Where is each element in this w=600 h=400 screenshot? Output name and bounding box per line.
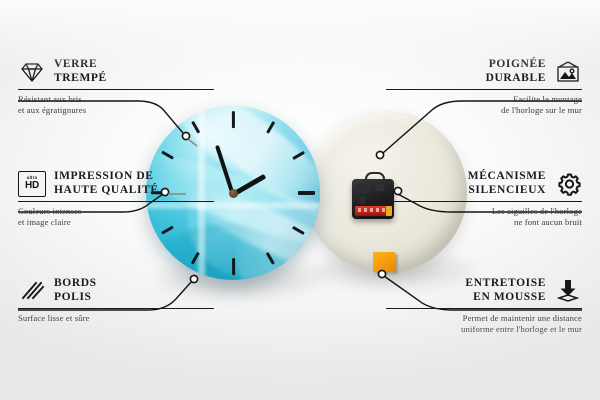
feature-verre-trempe: VERRE TREMPÉ Résistant aux bris et aux é… [18, 58, 214, 115]
feature-bords-polis: BORDS POLIS Surface lisse et sûre [18, 277, 214, 324]
feature-header: MÉCANISME SILENCIEUX [386, 170, 582, 197]
feature-title-line1: POIGNÉE [489, 58, 546, 70]
feature-title-line1: IMPRESSION DE [54, 170, 154, 182]
feature-header: BORDS POLIS [18, 277, 214, 304]
feature-subtitle: Permet de maintenir une distance uniform… [386, 313, 582, 334]
feature-subtitle-line2: et aux égratignures [18, 105, 86, 115]
feature-entretoise-en-mousse: ENTRETOISE EN MOUSSE Permet de maintenir… [386, 277, 582, 334]
foam-spacer-icon [554, 278, 582, 304]
polished-edges-icon [18, 278, 46, 304]
infographic-canvas: VERRE TREMPÉ Résistant aux bris et aux é… [0, 0, 600, 400]
feature-subtitle: Les aiguilles de l'horloge ne font aucun… [386, 206, 582, 227]
feature-subtitle: Facilite le montage de l'horloge sur le … [386, 94, 582, 115]
feature-subtitle-line2: de l'horloge sur le mur [501, 105, 582, 115]
feature-impression-haute-qualite: ultra HD IMPRESSION DE HAUTE QUALITÉ Cou… [18, 170, 214, 227]
feature-header: VERRE TREMPÉ [18, 58, 214, 85]
feature-title-line1: VERRE [54, 58, 97, 70]
feature-divider [18, 308, 214, 309]
feature-divider [386, 308, 582, 309]
feature-title-line2: TREMPÉ [54, 72, 107, 84]
feature-subtitle-line1: Surface lisse et sûre [18, 313, 90, 323]
feature-subtitle-line1: Résistant aux bris [18, 94, 82, 104]
feature-title: VERRE TREMPÉ [54, 58, 107, 85]
feature-subtitle: Résistant aux bris et aux égratignures [18, 94, 214, 115]
feature-divider [386, 89, 582, 90]
feature-divider [386, 201, 582, 202]
feature-title-line1: BORDS [54, 277, 97, 289]
feature-subtitle-line2: ne font aucun bruit [514, 217, 582, 227]
feature-header: ENTRETOISE EN MOUSSE [386, 277, 582, 304]
ultra-hd-badge: ultra HD [18, 171, 46, 197]
feature-title: BORDS POLIS [54, 277, 97, 304]
feature-subtitle: Surface lisse et sûre [18, 313, 214, 323]
feature-title-line1: MÉCANISME [468, 170, 546, 182]
ultra-hd-main-label: HD [25, 181, 39, 191]
feature-title: POIGNÉE DURABLE [486, 58, 546, 85]
gear-icon [554, 171, 582, 197]
feature-title-line2: HAUTE QUALITÉ [54, 184, 159, 196]
callout-stub [188, 139, 197, 146]
feature-header: ultra HD IMPRESSION DE HAUTE QUALITÉ [18, 170, 214, 197]
feature-divider [18, 89, 214, 90]
feature-subtitle-line2: et image claire [18, 217, 71, 227]
feature-subtitle-line1: Permet de maintenir une distance [463, 313, 582, 323]
feature-title: ENTRETOISE EN MOUSSE [465, 277, 546, 304]
feature-title: IMPRESSION DE HAUTE QUALITÉ [54, 170, 159, 197]
feature-subtitle: Couleurs intenses et image claire [18, 206, 214, 227]
ultra-hd-icon: ultra HD [18, 171, 46, 197]
feature-subtitle-line1: Les aiguilles de l'horloge [492, 206, 582, 216]
feature-subtitle-line1: Facilite le montage [513, 94, 582, 104]
feature-title-line2: SILENCIEUX [468, 184, 546, 196]
diamond-icon [18, 59, 46, 85]
feature-subtitle-line2: uniforme entre l'horloge et le mur [461, 324, 582, 334]
callout-dot-entretoise [378, 270, 385, 277]
feature-header: POIGNÉE DURABLE [386, 58, 582, 85]
feature-mecanisme-silencieux: MÉCANISME SILENCIEUX Les aiguilles de l'… [386, 170, 582, 227]
callout-dot-poignee [376, 151, 383, 158]
wall-hanger-icon [554, 59, 582, 85]
feature-title-line1: ENTRETOISE [465, 277, 546, 289]
feature-title-line2: POLIS [54, 291, 92, 303]
feature-subtitle-line1: Couleurs intenses [18, 206, 81, 216]
feature-title-line2: DURABLE [486, 72, 546, 84]
feature-title-line2: EN MOUSSE [473, 291, 546, 303]
feature-title: MÉCANISME SILENCIEUX [468, 170, 546, 197]
feature-divider [18, 201, 214, 202]
feature-poignee-durable: POIGNÉE DURABLE Facilite le montage de l… [386, 58, 582, 115]
